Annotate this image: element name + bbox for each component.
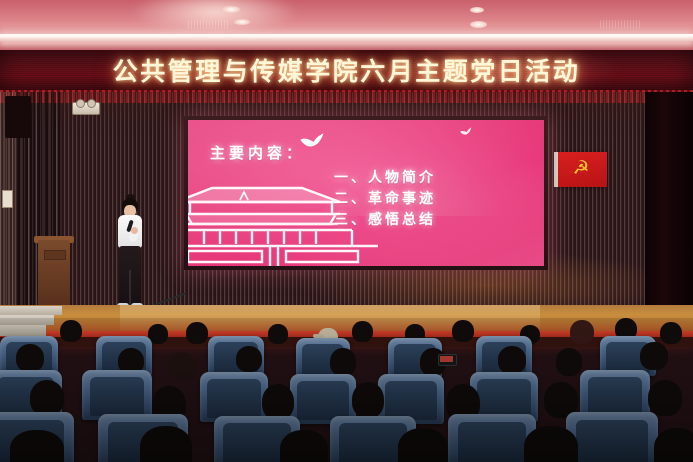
audience-head — [268, 324, 288, 344]
projection-screen-frame: 主要内容： 一、人物简介 二、革命事迹 三、感悟总结 — [184, 116, 548, 270]
stair-step-1 — [0, 306, 62, 315]
audience-head — [16, 344, 44, 372]
audience-head — [452, 320, 474, 342]
ac-dot-right — [87, 99, 96, 108]
ceiling-vent-right — [600, 20, 642, 29]
ceiling-glow — [130, 0, 300, 36]
seat[interactable] — [82, 370, 152, 420]
audience-head — [498, 346, 526, 374]
audience-head — [168, 352, 196, 382]
ceiling-vent-left — [188, 20, 230, 29]
presenter — [113, 198, 147, 316]
seat[interactable] — [448, 414, 536, 462]
ceiling-spot-2 — [234, 19, 250, 25]
audience-head — [660, 322, 682, 344]
ceiling-spot-1 — [222, 6, 240, 13]
audience-head — [140, 426, 192, 462]
seat-cushion — [339, 423, 406, 462]
party-flag: ☭ — [557, 152, 607, 187]
wall-plate — [2, 190, 13, 208]
auditorium-photo: 公共管理与传媒学院六月主题党日活动 — [0, 0, 693, 462]
audience-head — [352, 321, 373, 342]
seat-cushion — [458, 422, 527, 462]
audience-head — [262, 384, 294, 420]
slide-item-1: 一、人物简介 — [334, 168, 436, 189]
projection-screen[interactable]: 主要内容： 一、人物简介 二、革命事迹 三、感悟总结 — [188, 120, 544, 266]
ceiling-light-halo — [0, 41, 693, 45]
seat-cushion — [385, 381, 436, 420]
seat-cushion — [477, 379, 530, 418]
ceiling-spot-3 — [470, 7, 484, 13]
hammer-sickle-icon: ☭ — [570, 159, 592, 179]
ceiling-spot-4 — [470, 21, 487, 28]
slide-item-list: 一、人物简介 二、革命事迹 三、感悟总结 — [334, 168, 436, 231]
audience-head — [398, 428, 448, 462]
audience-head — [186, 322, 208, 344]
wall-speaker — [5, 96, 31, 138]
slide-item-2: 二、革命事迹 — [334, 189, 436, 210]
audience-head — [556, 348, 582, 376]
ceiling-light-strip — [0, 34, 693, 41]
flag-hoist — [554, 152, 558, 187]
seat[interactable] — [566, 412, 658, 462]
seat[interactable] — [200, 372, 268, 422]
seat-cushion — [207, 379, 260, 418]
audience-head — [236, 346, 262, 372]
banner-title: 公共管理与传媒学院六月主题党日活动 — [0, 52, 693, 88]
audience-head — [654, 428, 693, 462]
seat-cushion — [297, 381, 348, 420]
audience-head — [60, 320, 82, 342]
audience-head — [648, 380, 682, 416]
audience-head — [640, 342, 668, 370]
audience-head — [524, 426, 578, 462]
phone-screen — [440, 356, 453, 362]
seat-cushion — [576, 420, 648, 462]
audience-area — [0, 318, 693, 462]
podium-panel — [44, 250, 66, 260]
presenter-hand — [131, 227, 138, 234]
audience-head — [330, 348, 356, 376]
seat-cushion — [90, 377, 145, 416]
audience-head — [570, 320, 594, 344]
stage-curtain-right — [645, 92, 693, 310]
seat-cushion — [588, 377, 643, 416]
slide-heading: 主要内容： — [210, 142, 305, 163]
banner-assembly: 公共管理与传媒学院六月主题党日活动 — [0, 50, 693, 92]
audience-head — [352, 382, 384, 418]
ac-dot-left — [76, 99, 85, 108]
slide-item-3: 三、感悟总结 — [334, 210, 436, 231]
audience-head — [30, 380, 64, 416]
audience-head — [10, 430, 64, 462]
wall-ac-unit — [72, 102, 100, 115]
smartphone-icon[interactable] — [438, 354, 457, 366]
led-banner: 公共管理与传媒学院六月主题党日活动 — [0, 50, 693, 90]
audience-head — [280, 430, 328, 462]
presenter-leg-gap — [129, 270, 131, 305]
ceiling — [0, 0, 693, 52]
